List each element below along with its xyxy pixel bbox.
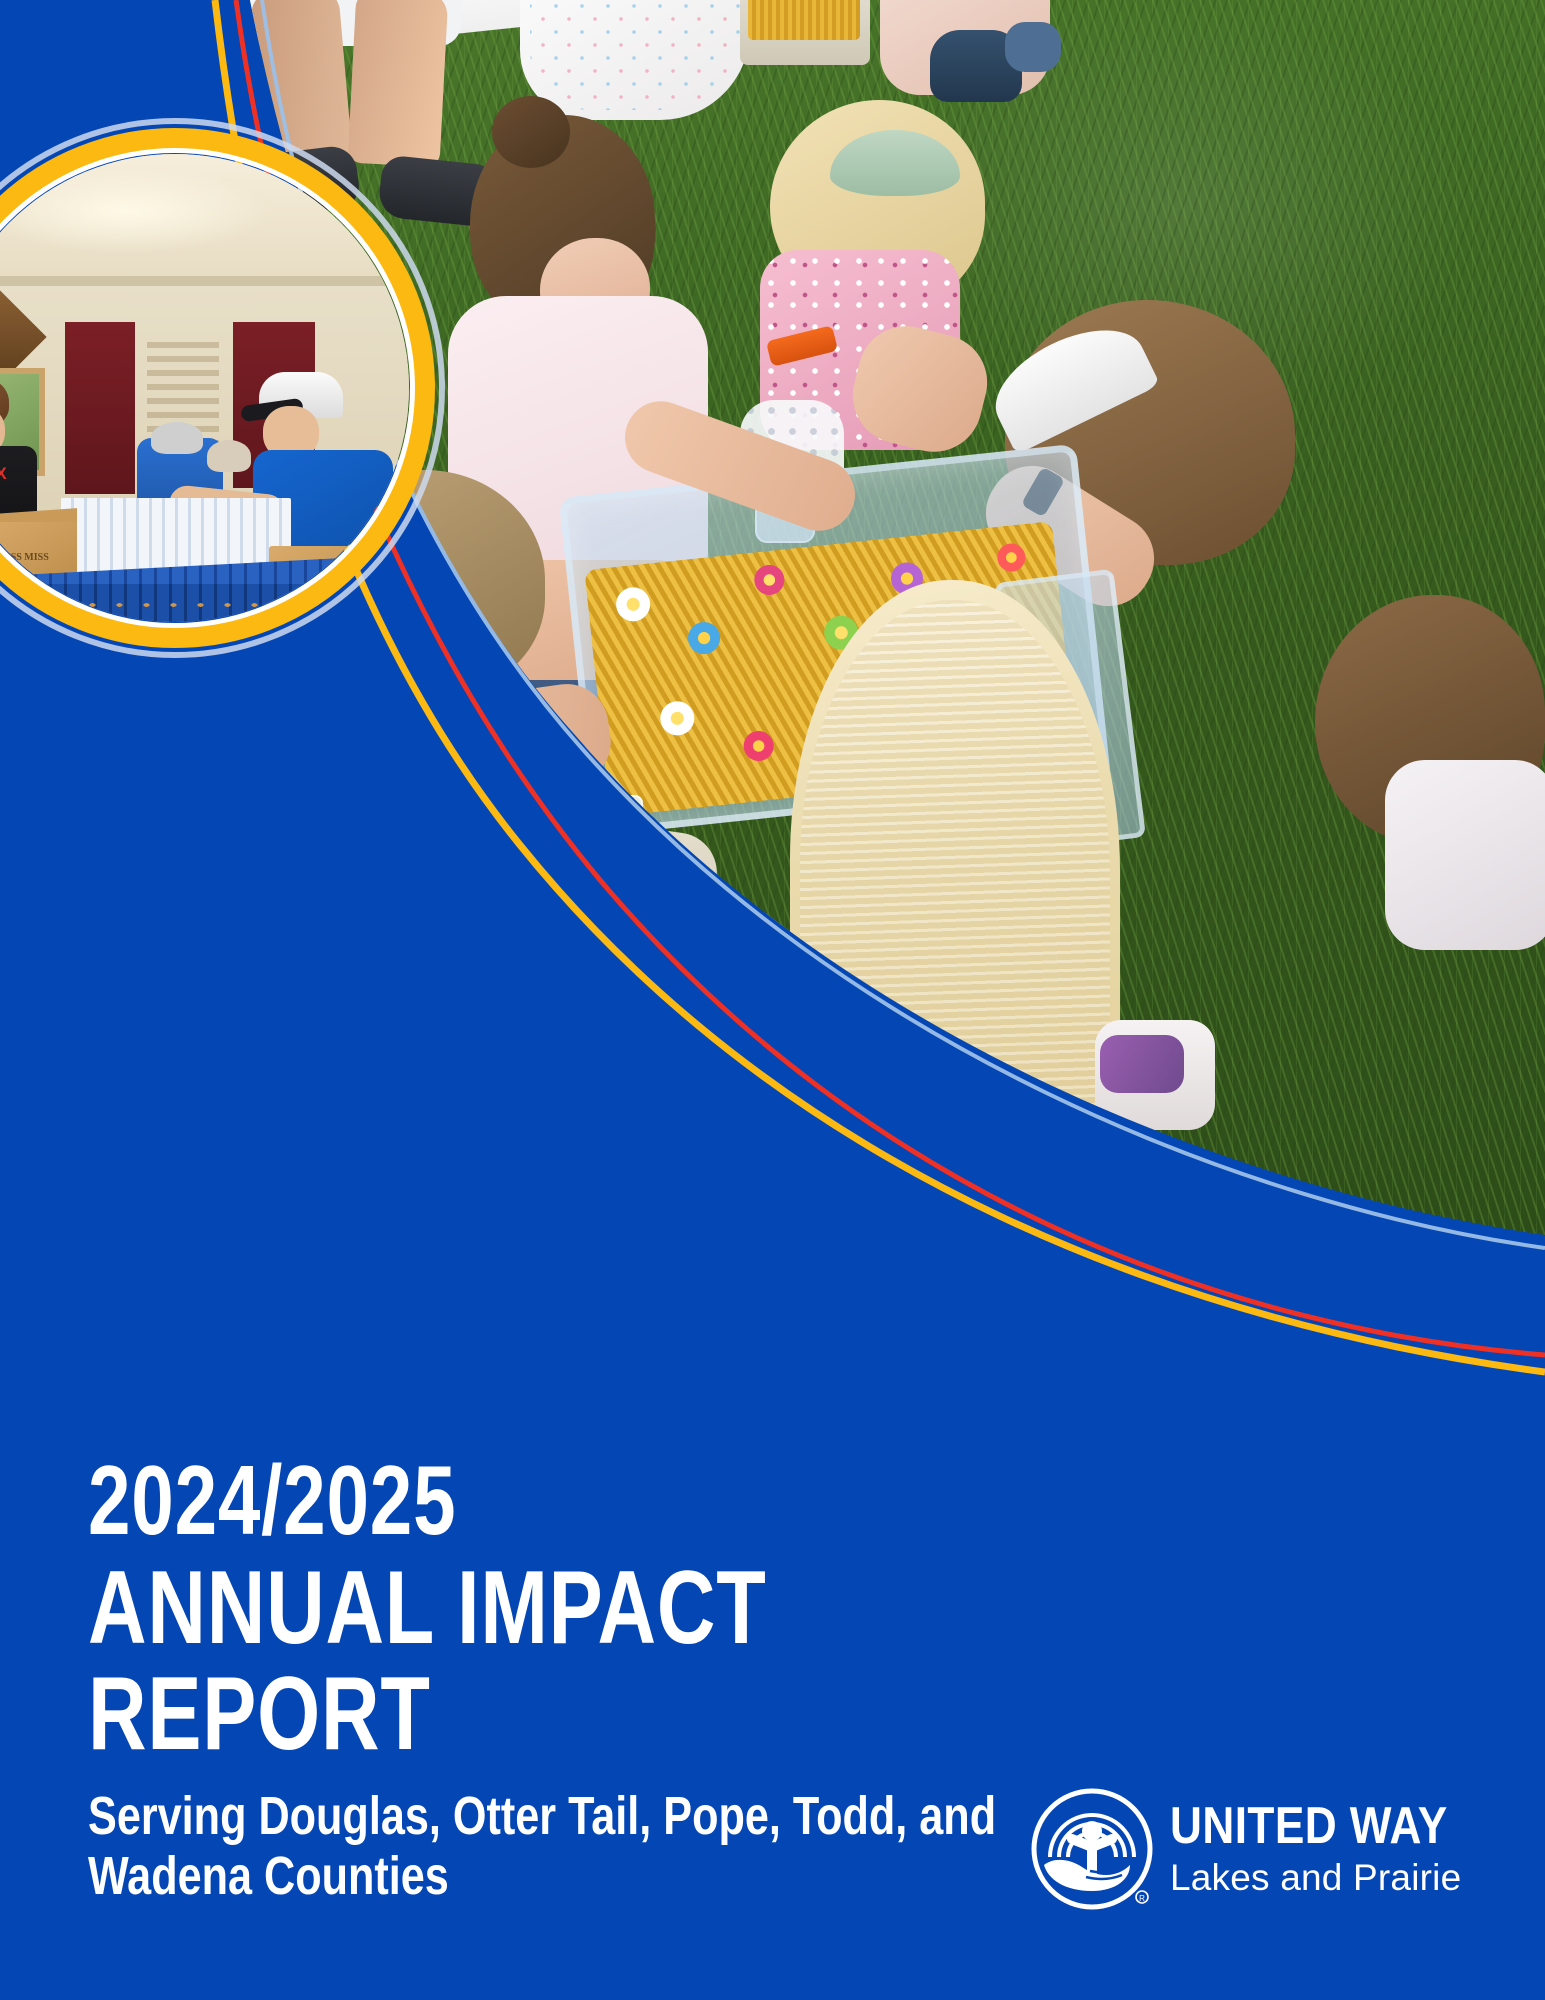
page-subtitle: Serving Douglas, Otter Tail, Pope, Todd,…	[88, 1787, 1048, 1906]
united-way-wordmark: UNITED WAY Lakes and Prairie	[1170, 1800, 1497, 1898]
plastic-flower	[996, 542, 1027, 573]
volunteers-food-packing-photo: ALEX SWISS MISS SWISS MISS	[0, 154, 409, 622]
plastic-flower	[686, 621, 721, 656]
volunteer-light-hair	[207, 440, 251, 472]
volunteer-gray-hair	[151, 422, 203, 454]
plastic-flower	[659, 700, 696, 737]
united-way-tagline: Lakes and Prairie	[1170, 1857, 1497, 1898]
report-year-range: 2024/2025	[88, 1452, 1024, 1549]
blond-boy-hair	[380, 740, 650, 980]
ceiling-beam	[0, 276, 409, 286]
cup-corn-fill	[572, 818, 635, 860]
long-blonde-hair-strands	[800, 600, 1110, 1150]
inset-circle-photo: ALEX SWISS MISS SWISS MISS	[0, 118, 445, 658]
boy-left-shirt	[282, 675, 512, 905]
blond-boy-peach-shirt	[470, 915, 770, 1245]
clear-cup-lower	[565, 795, 643, 875]
united-way-helping-hand-icon: R	[1030, 1787, 1154, 1911]
plastic-flower	[742, 729, 775, 762]
blond-boy-arm	[588, 823, 722, 1017]
far-right-child-body	[1385, 760, 1545, 950]
page-title: ANNUAL IMPACT REPORT	[88, 1555, 1024, 1767]
dark-red-panel-1	[65, 322, 135, 494]
plastic-flower	[753, 563, 786, 596]
united-way-logo: R UNITED WAY Lakes and Prairie	[1030, 1787, 1497, 1911]
blue-box-label-accents	[0, 594, 387, 622]
box-brand-label-left: SWISS MISS	[0, 550, 63, 566]
svg-text:R: R	[1139, 1894, 1145, 1903]
plastic-flower	[614, 586, 651, 623]
sneaker-accent	[1100, 1035, 1184, 1093]
helper-hand	[434, 679, 616, 802]
dress-dot-pattern	[530, 0, 740, 110]
report-cover-page: ALEX SWISS MISS SWISS MISS 2024/2025 ANN…	[0, 0, 1545, 2000]
united-way-name: UNITED WAY	[1170, 1800, 1448, 1852]
girl-ponytail-bun	[492, 96, 570, 168]
tote-corn-fill	[748, 0, 860, 40]
upper-right-shoe-2	[1005, 22, 1061, 72]
tshirt-alex-text: ALEX	[0, 464, 19, 484]
